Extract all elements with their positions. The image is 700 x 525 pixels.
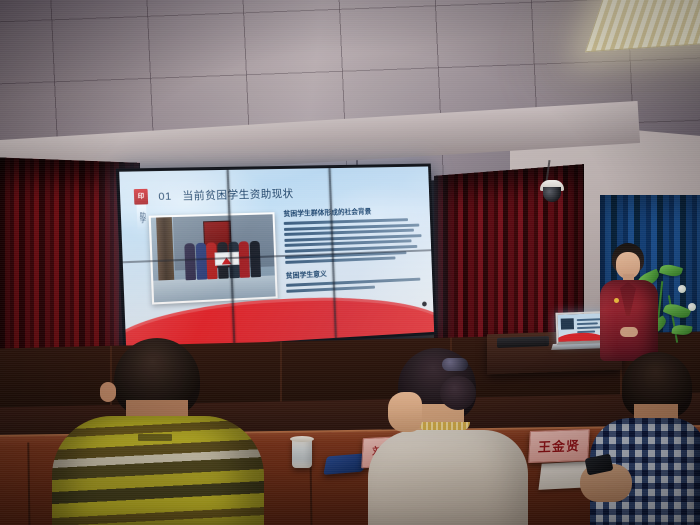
attendee-hair-bun [440,376,476,410]
presenter-speaker [594,243,670,361]
photo-snow-ground [153,275,275,302]
hair-clip [442,358,468,371]
attendee-left [52,338,264,525]
laptop-slide-thumbnail [561,318,574,329]
slide-paragraph: 贫困学生意义 [286,265,427,293]
blue-smartphone[interactable] [323,453,366,475]
attendee-right [588,352,700,525]
photo-person [195,243,207,280]
dome-security-camera-icon [540,180,564,204]
cup-rim [290,436,314,442]
name-placard-right: 王金贤 [528,429,590,463]
presenter-badge [614,298,619,303]
seal-calligraphy: 助学 [137,204,148,229]
desk-device [497,336,549,348]
photo-person [239,242,250,279]
placard-name: 王金贤 [538,439,581,453]
attendee-white-top [368,430,528,525]
red-seal-icon: 印 [134,189,148,205]
attendee-center [368,348,528,525]
attendee-ear [100,382,116,402]
photo-person [250,241,261,278]
attendee-hand [388,392,422,432]
slide-section-number: 01 [158,190,172,203]
conference-room-photo: 印 助学 01 当前贫困学生资助现状 [0,0,700,525]
photo-person [184,243,196,280]
video-wall-display[interactable]: 印 助学 01 当前贫困学生资助现状 [116,164,437,354]
paper-cup [292,438,312,468]
ceiling-light-panel [585,0,700,52]
attendee-striped-shirt [52,416,264,525]
presenter-hands [620,327,638,337]
shirt-logo [138,434,172,441]
camera-dome [543,187,561,202]
slide-title-text: 当前贫困学生资助现状 [182,188,294,203]
